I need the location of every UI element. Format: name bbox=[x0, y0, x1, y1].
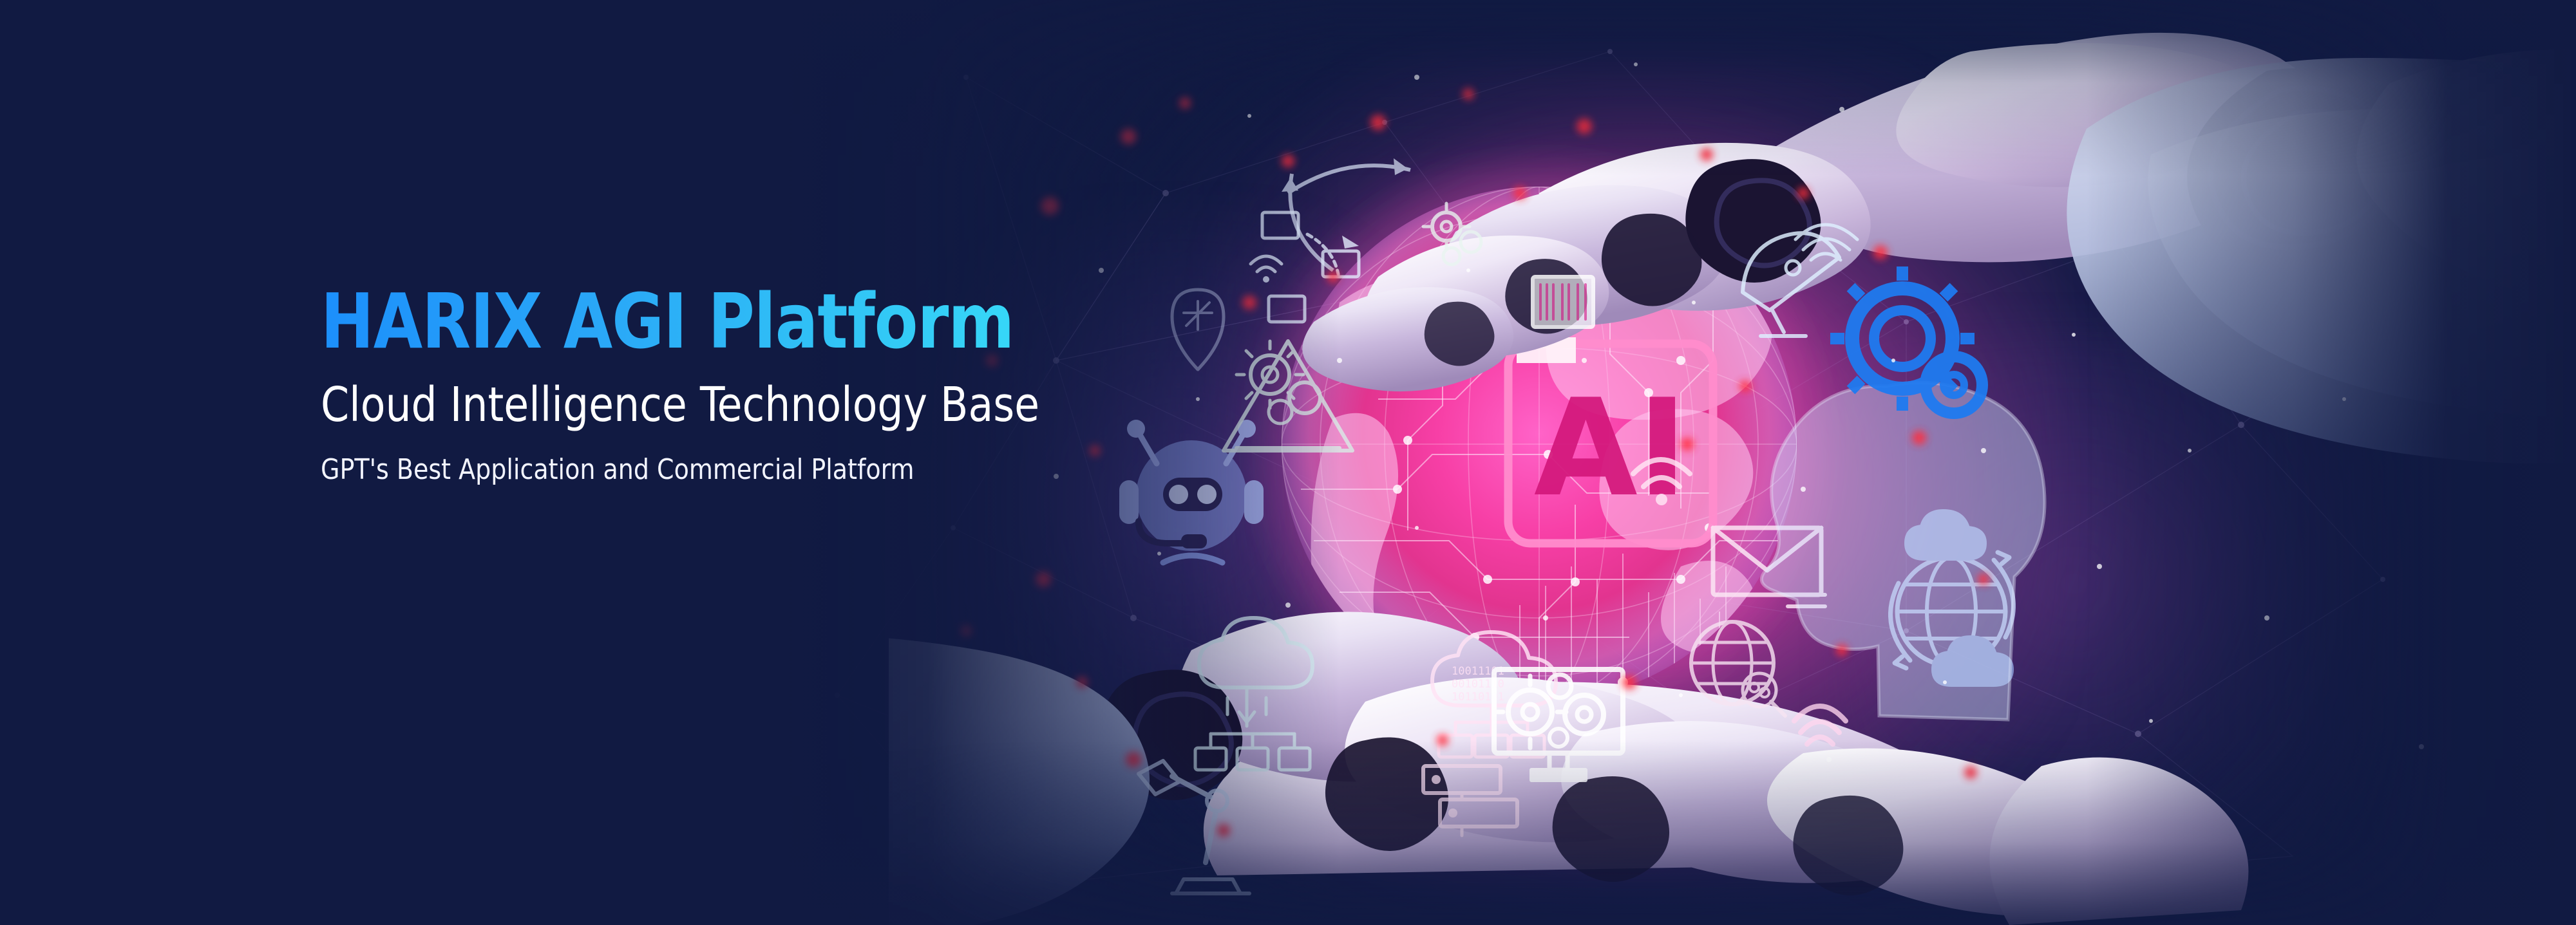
page-title: HARIX AGI Platform bbox=[321, 282, 1159, 361]
hero-banner: 10110100101101001011010010110100 0100101… bbox=[0, 0, 2576, 925]
page-tagline: GPT's Best Application and Commercial Pl… bbox=[321, 454, 1186, 485]
hero-copy-block: HARIX AGI Platform Cloud Intelligence Te… bbox=[321, 282, 1222, 486]
page-subtitle: Cloud Intelligence Technology Base bbox=[321, 379, 1177, 431]
